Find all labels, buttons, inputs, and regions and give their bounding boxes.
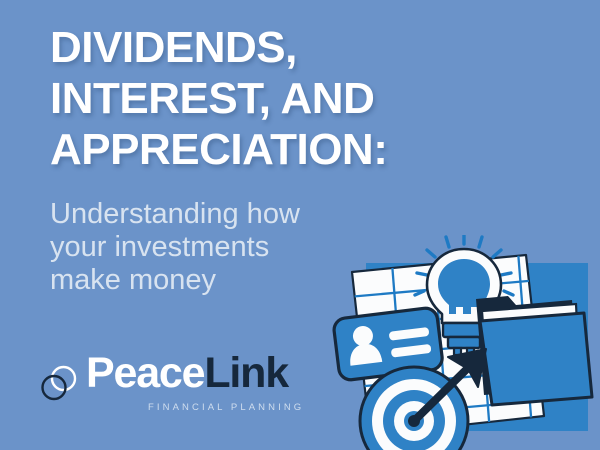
- subtitle-line-1: Understanding how: [50, 198, 450, 231]
- brand-tagline: FINANCIAL PLANNING: [148, 402, 304, 413]
- brand-wordmark: PeaceLink FINANCIAL PLANNING: [86, 352, 304, 413]
- brand-name: PeaceLink: [86, 352, 304, 395]
- headline-line-2: INTEREST, AND: [50, 73, 570, 124]
- folder-icon: [466, 287, 592, 405]
- brand-name-link: Link: [204, 349, 288, 397]
- headline-line-3: APPRECIATION:: [50, 124, 570, 175]
- financial-planning-illustration: [330, 235, 600, 450]
- brand-logo: PeaceLink FINANCIAL PLANNING: [36, 352, 304, 413]
- interlocking-rings-icon: [36, 360, 82, 406]
- poster-canvas: DIVIDENDS, INTEREST, AND APPRECIATION: U…: [0, 0, 600, 450]
- page-title: DIVIDENDS, INTEREST, AND APPRECIATION:: [50, 22, 570, 175]
- headline-line-1: DIVIDENDS,: [50, 22, 570, 73]
- brand-name-peace: Peace: [86, 349, 204, 397]
